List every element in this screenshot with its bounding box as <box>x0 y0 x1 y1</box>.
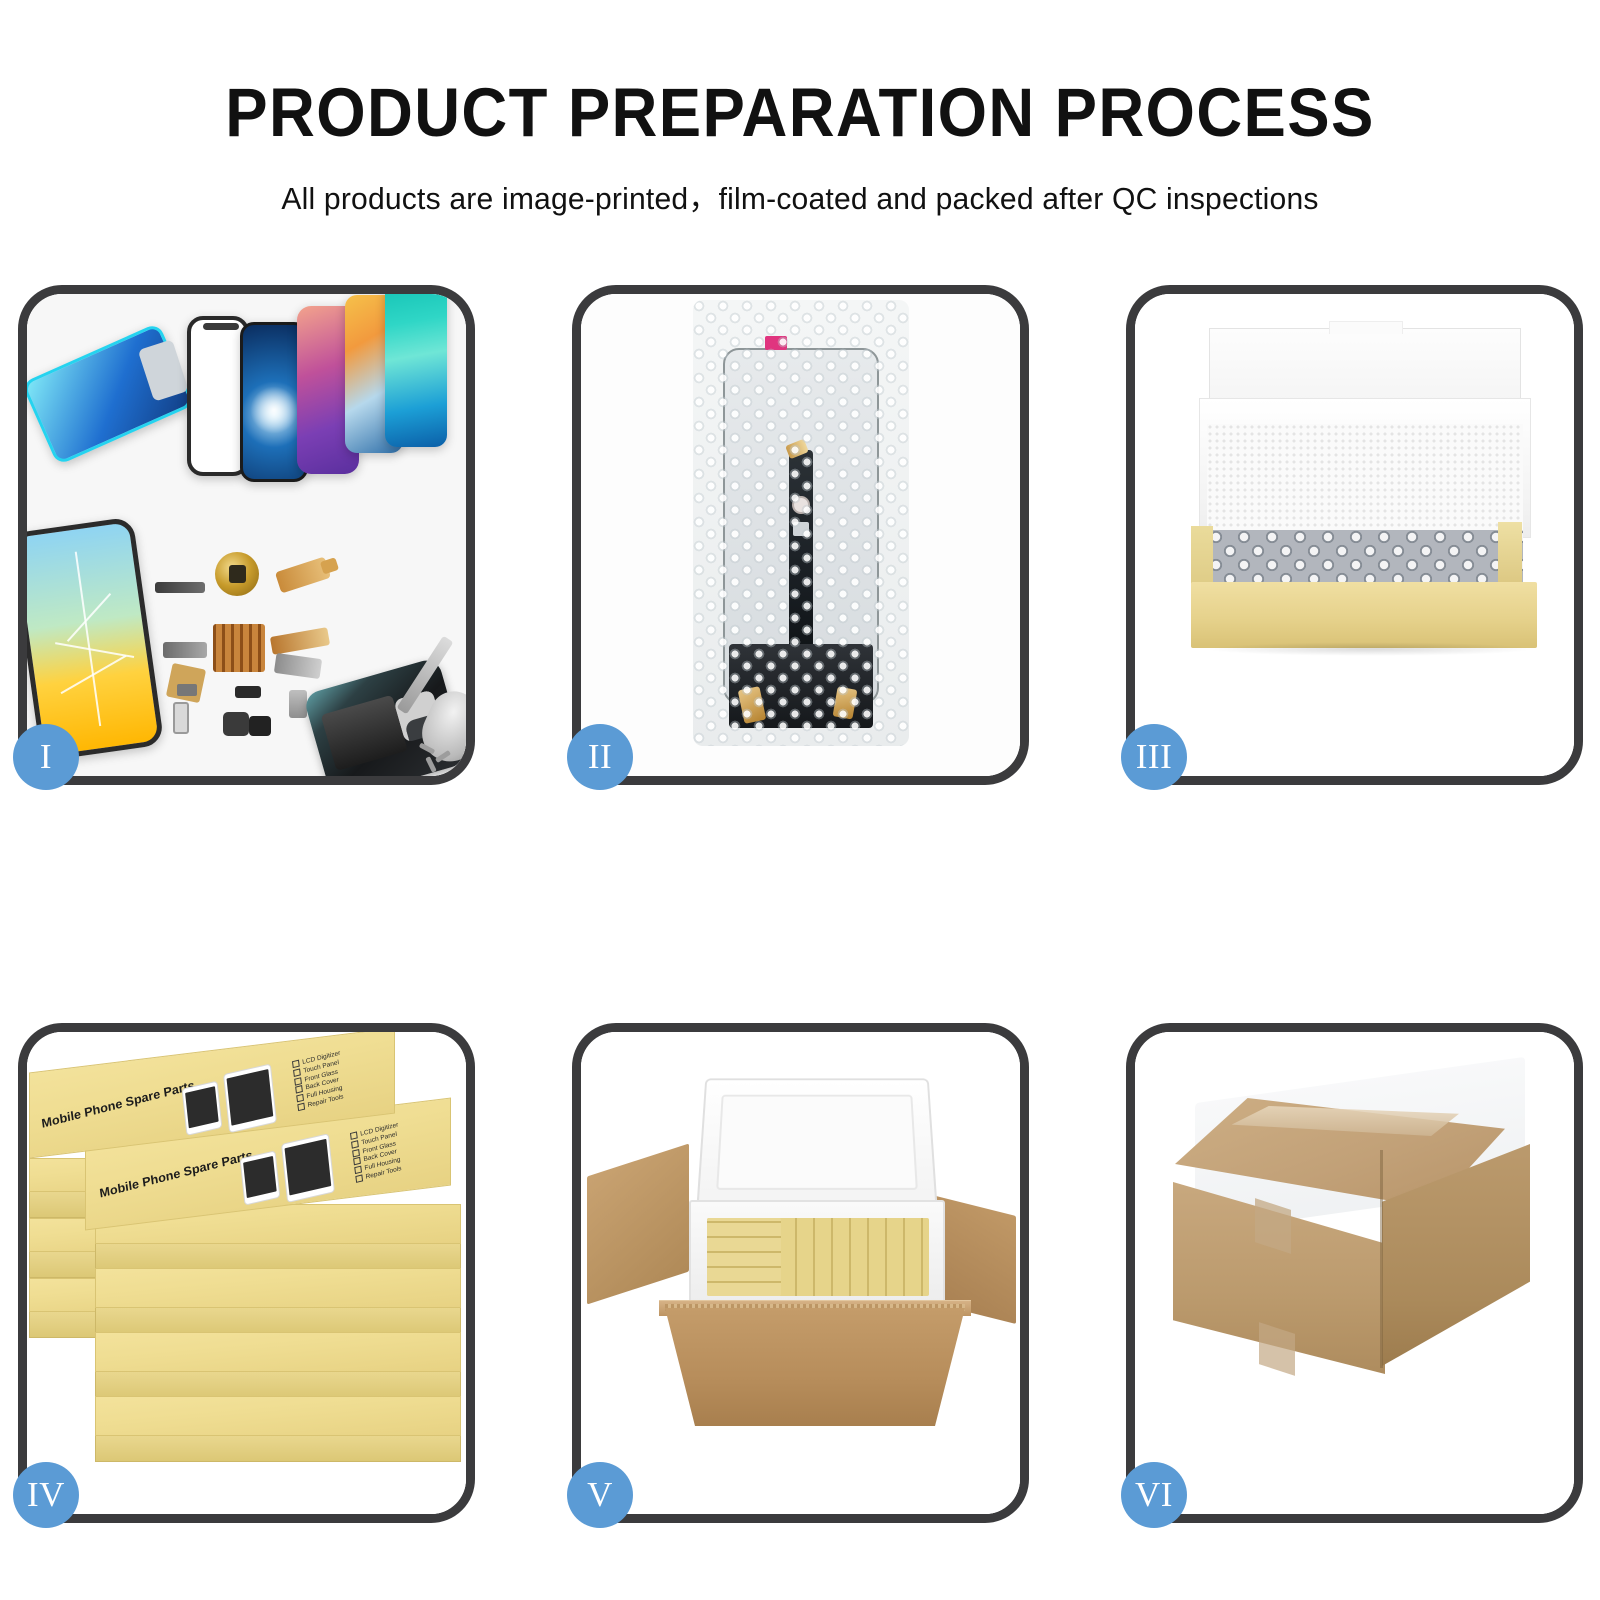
sim-tray-part <box>173 702 189 734</box>
step-card-4: Mobile Phone Spare Parts LCD Digitizer T… <box>18 1023 475 1523</box>
box-front-panel <box>1191 582 1537 648</box>
carton-front-panel <box>665 1308 965 1426</box>
camera-module-part <box>223 712 249 736</box>
gold-connector-part <box>166 663 206 703</box>
power-flex-part <box>270 627 330 655</box>
step-card-6: VI <box>1126 1023 1583 1523</box>
step-badge-1: I <box>13 724 79 790</box>
taptic-engine-part <box>215 552 259 596</box>
step-image-2 <box>581 294 1020 776</box>
step-badge-5: V <box>567 1462 633 1528</box>
infographic-page: PRODUCT PREPARATION PROCESS All products… <box>0 0 1600 1600</box>
back-glass-part <box>27 322 195 465</box>
volume-flex-part <box>274 653 322 679</box>
page-title: PRODUCT PREPARATION PROCESS <box>64 78 1536 147</box>
step-image-4: Mobile Phone Spare Parts LCD Digitizer T… <box>27 1032 466 1514</box>
step-card-2: II <box>572 285 1029 785</box>
page-subtitle: All products are image-printed，film-coat… <box>24 173 1576 218</box>
step-badge-2: II <box>567 724 633 790</box>
box-shadow <box>1205 642 1535 656</box>
step-badge-3: III <box>1121 724 1187 790</box>
step-card-5: V <box>572 1023 1029 1523</box>
step-badge-4: IV <box>13 1462 79 1528</box>
foam-cooler-lid <box>696 1078 937 1208</box>
bubble-wrap-bag <box>693 300 909 746</box>
box-art-phone-1 <box>183 1082 222 1135</box>
carton-vertical-edge <box>1380 1150 1383 1368</box>
box-art-phone-3 <box>241 1152 280 1205</box>
process-steps-grid: I <box>18 285 1582 1445</box>
step-image-5 <box>581 1032 1020 1514</box>
retail-box-mid-4 <box>95 1396 461 1436</box>
step-card-3: III <box>1126 285 1583 785</box>
step-image-1 <box>27 294 466 776</box>
box-art-phone-4 <box>282 1134 334 1201</box>
step-card-1: I <box>18 285 475 785</box>
foam-sheet <box>1207 424 1523 542</box>
gold-boxes-inside-left <box>707 1218 781 1296</box>
step-badge-6: VI <box>1121 1462 1187 1528</box>
earpiece-speaker-part <box>155 582 205 593</box>
small-flex-part <box>163 642 207 658</box>
step-image-6 <box>1135 1032 1574 1514</box>
bubble-texture <box>693 300 909 746</box>
retail-box-mid-3 <box>95 1332 461 1372</box>
header: PRODUCT PREPARATION PROCESS All products… <box>0 0 1600 218</box>
ic-chip-part <box>213 624 265 672</box>
chip-part <box>235 686 261 698</box>
carton-left-flap <box>587 1143 689 1304</box>
camera-module-2-part <box>249 716 271 736</box>
sensor-part <box>289 690 307 718</box>
box-art-phone-2 <box>224 1065 276 1132</box>
teal-phone-screen <box>385 294 447 447</box>
step-image-3 <box>1135 294 1574 776</box>
screws-part <box>419 746 463 772</box>
button-part <box>177 684 197 696</box>
bubble-wrap-layer <box>1209 530 1523 590</box>
flex-cable-part <box>275 557 331 594</box>
retail-box-mid-2 <box>95 1268 461 1308</box>
